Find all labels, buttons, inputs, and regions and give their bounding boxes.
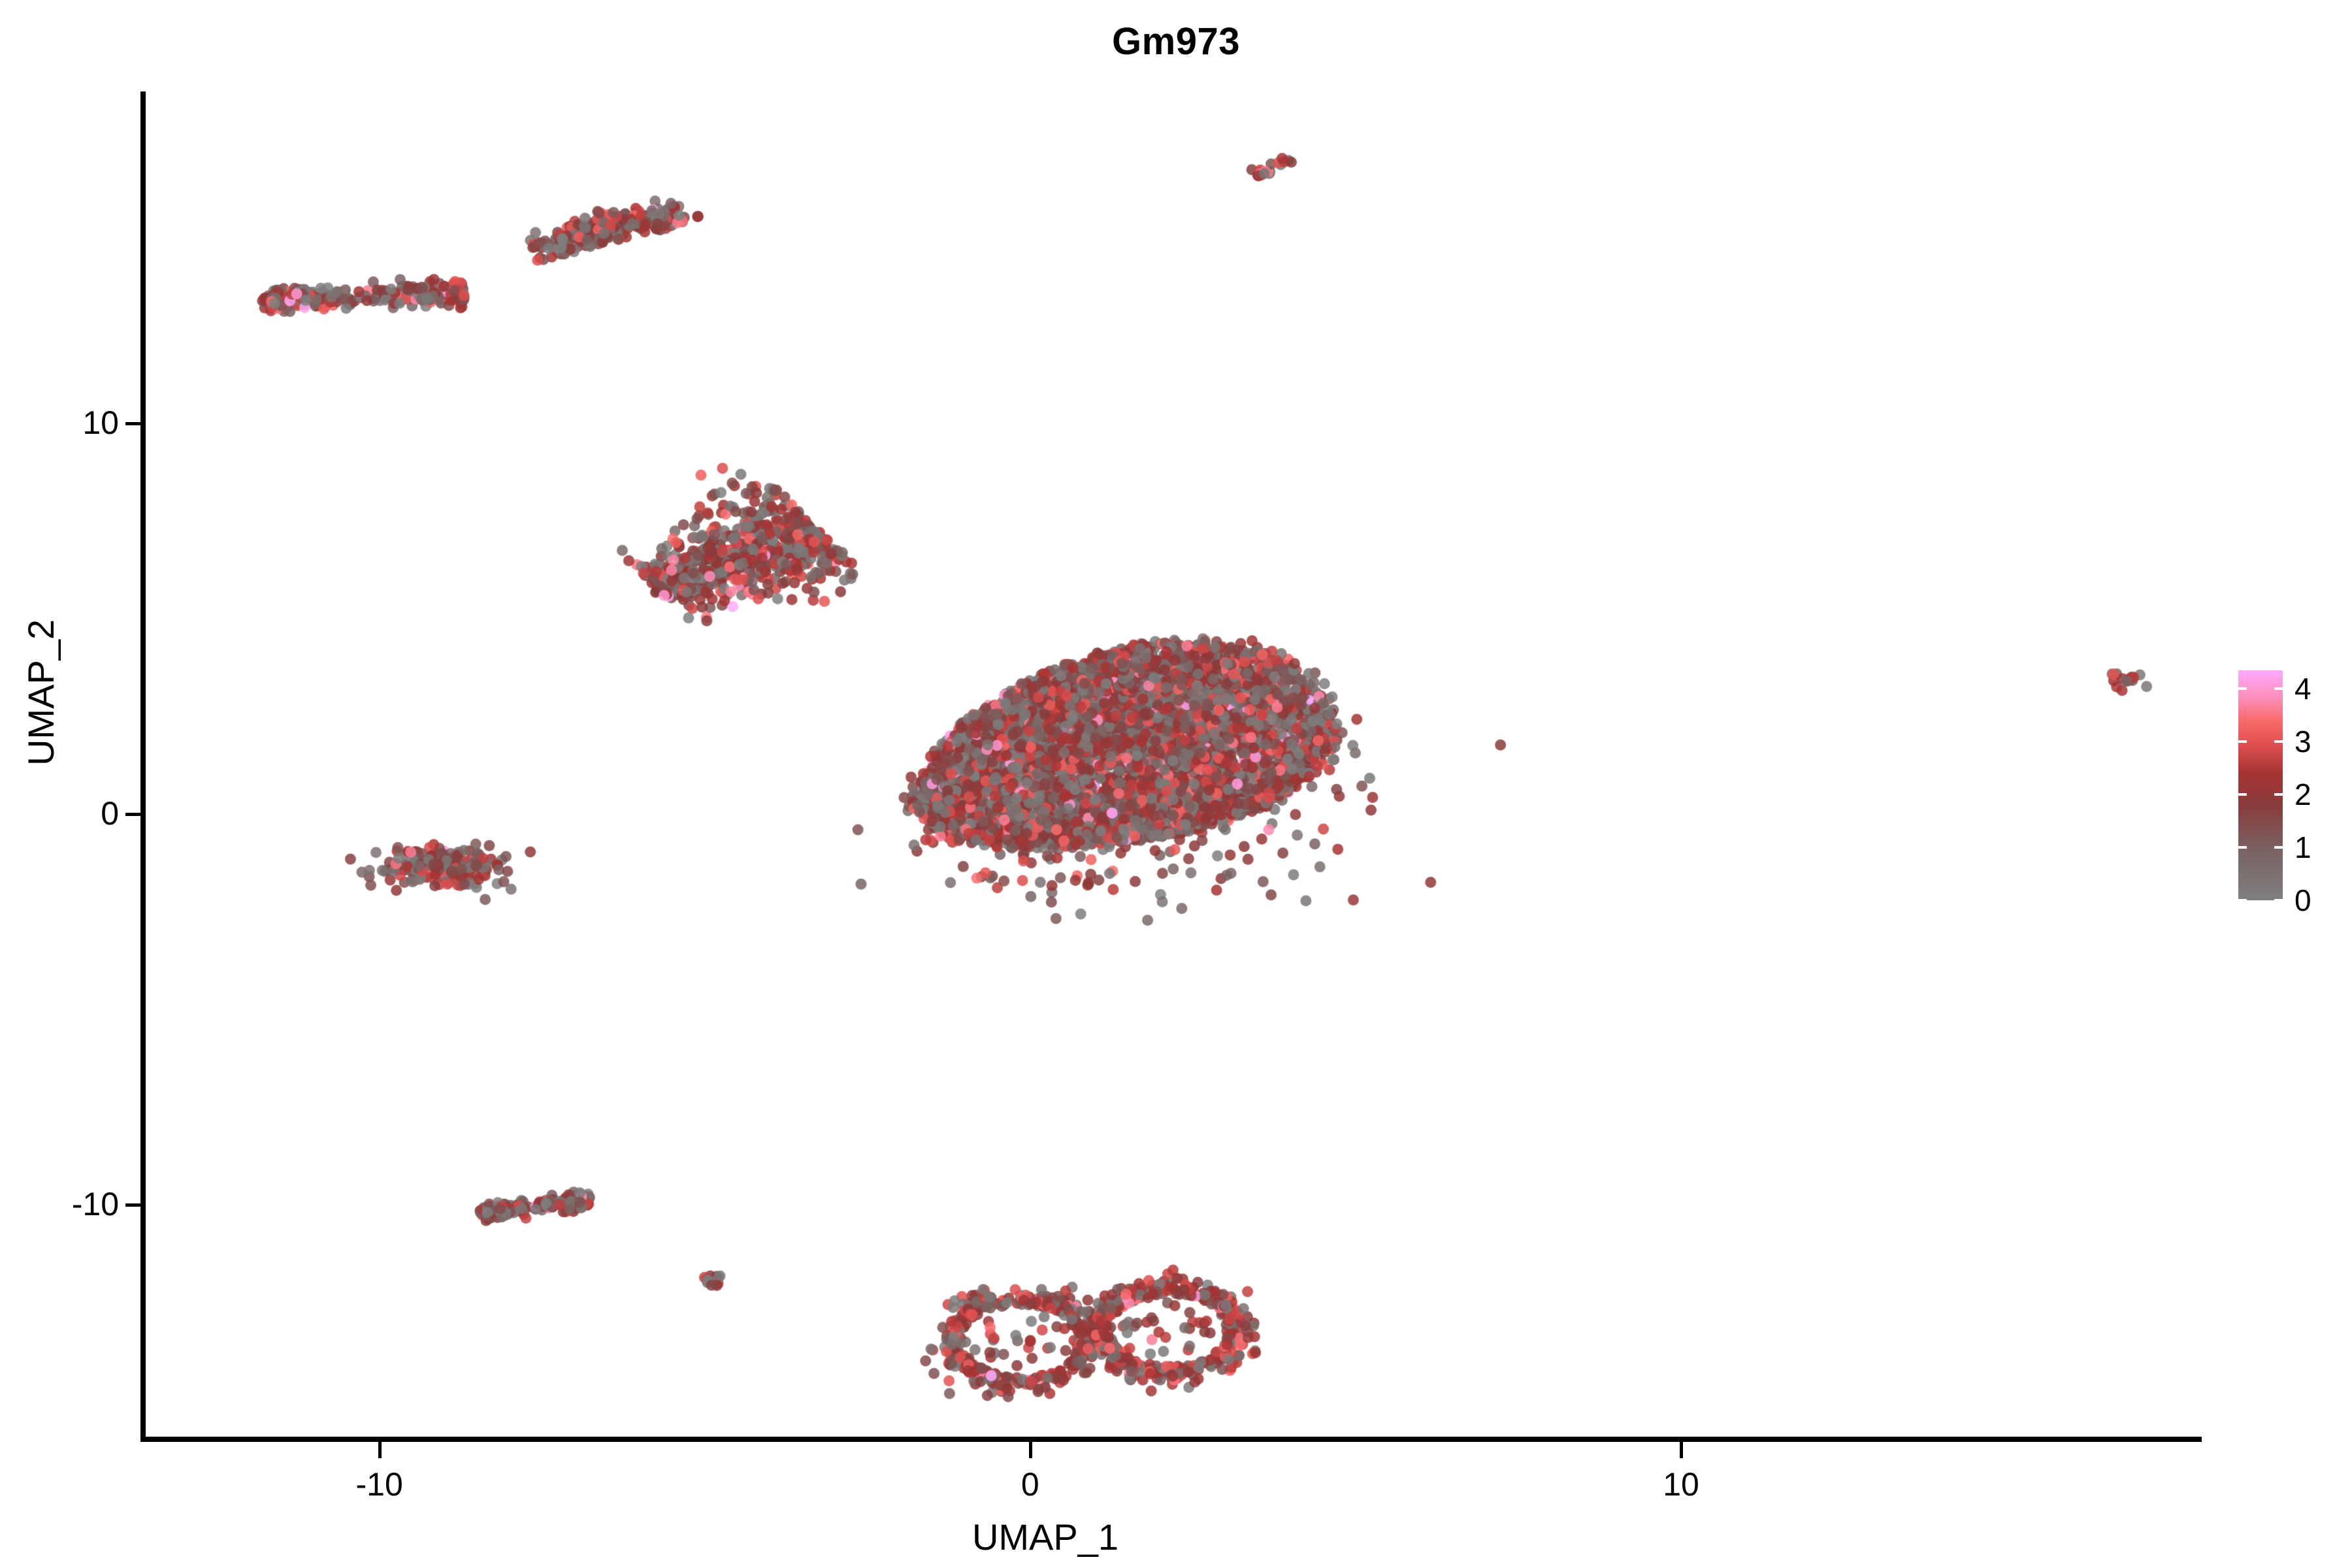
colorbar-gradient <box>2238 670 2283 900</box>
x-tick-label: -10 <box>355 1465 402 1503</box>
y-tick-label: -10 <box>72 1185 119 1223</box>
x-tick-label: 10 <box>1663 1465 1699 1503</box>
y-tick-mark <box>125 813 141 816</box>
colorbar-tick-mark <box>2274 740 2283 743</box>
colorbar-tick-label: 1 <box>2295 832 2311 862</box>
umap-feature-plot: Gm973 100-10 -10010 UMAP_1 UMAP_2 43210 <box>0 0 2352 1568</box>
y-tick-mark <box>125 422 141 425</box>
y-tick-mark <box>125 1203 141 1207</box>
colorbar-tick-mark <box>2238 740 2247 743</box>
colorbar-tick-label: 3 <box>2295 727 2311 757</box>
colorbar-tick-label: 4 <box>2295 674 2311 704</box>
scatter-points-layer <box>145 91 2202 1439</box>
colorbar-tick-mark <box>2238 899 2247 902</box>
colorbar-legend: 43210 <box>2234 666 2339 908</box>
colorbar-tick-label: 0 <box>2295 885 2311 915</box>
page-title: Gm973 <box>0 20 2352 63</box>
x-tick-mark <box>1680 1442 1683 1458</box>
colorbar-tick-mark <box>2238 793 2247 796</box>
colorbar-tick-label: 2 <box>2295 779 2311 809</box>
colorbar-tick-mark <box>2238 846 2247 849</box>
y-tick-label: 10 <box>82 404 119 442</box>
colorbar-tick-mark <box>2274 687 2283 690</box>
x-axis-title: UMAP_1 <box>972 1516 1119 1558</box>
y-axis-title: UMAP_2 <box>20 619 62 766</box>
colorbar-tick-mark <box>2274 846 2283 849</box>
plot-panel <box>145 91 2202 1439</box>
colorbar-tick-mark <box>2274 899 2283 902</box>
x-axis-line <box>140 1437 2202 1442</box>
y-axis-line <box>140 91 146 1441</box>
y-tick-label: 0 <box>101 794 119 832</box>
x-tick-mark <box>378 1442 382 1458</box>
colorbar-tick-mark <box>2238 687 2247 690</box>
colorbar-tick-mark <box>2274 793 2283 796</box>
x-tick-mark <box>1029 1442 1032 1458</box>
x-tick-label: 0 <box>1021 1465 1039 1503</box>
